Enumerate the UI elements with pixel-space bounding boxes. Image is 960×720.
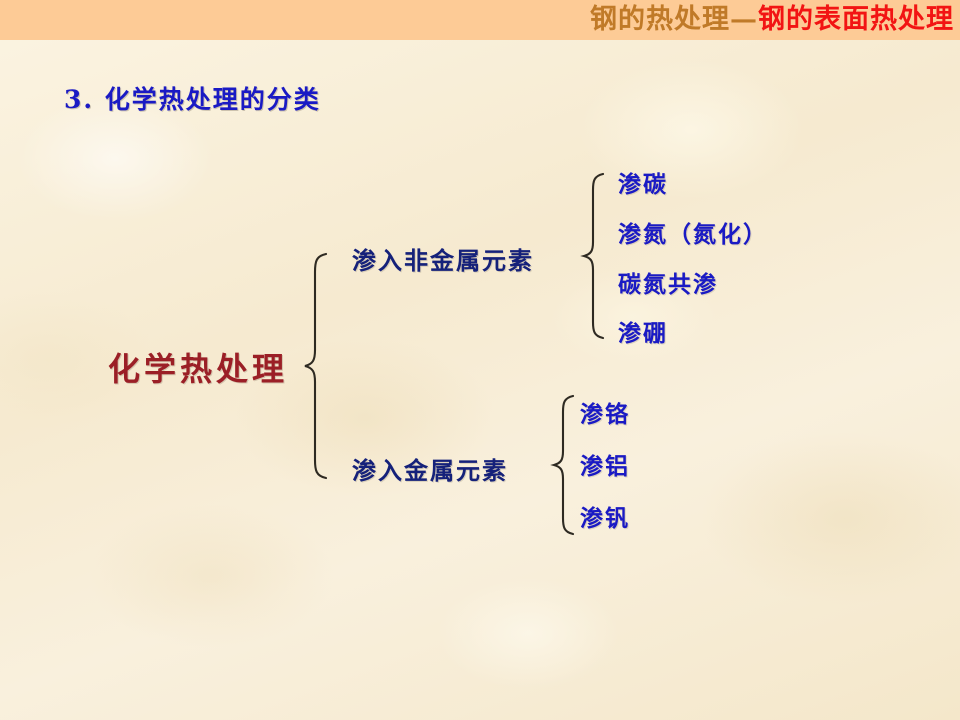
diagram-leaf-carburize: 渗碳 <box>618 165 668 199</box>
header-title-prefix: 钢的热处理 <box>590 4 730 35</box>
slide-canvas: 钢的热处理—钢的表面热处理 3. 化学热处理的分类 化学热处理 渗入非金属元素 … <box>0 0 960 720</box>
brace-main <box>300 250 334 482</box>
brace-nonmetal <box>580 170 610 342</box>
header-title-emphasis: 钢的表面热处理 <box>758 4 954 35</box>
diagram-leaf-boronize: 渗硼 <box>618 314 668 348</box>
diagram-leaf-chromize: 渗铬 <box>580 395 630 429</box>
diagram-branch-label-metal: 渗入金属元素 <box>352 451 508 486</box>
diagram-branch-label-nonmetal: 渗入非金属元素 <box>352 241 534 276</box>
diagram-root-label: 化学热处理 <box>108 344 288 390</box>
section-heading: 3. 化学热处理的分类 <box>64 80 321 116</box>
diagram-leaf-aluminize: 渗铝 <box>580 447 630 481</box>
diagram-leaf-vanadize: 渗钒 <box>580 499 630 533</box>
brace-metal <box>550 392 580 538</box>
diagram-leaf-carbonitride: 碳氮共渗 <box>618 265 718 299</box>
diagram-leaf-nitride: 渗氮（氮化） <box>618 215 768 249</box>
header-title: 钢的热处理—钢的表面热处理 <box>590 3 954 37</box>
header-title-dash: — <box>730 4 758 35</box>
